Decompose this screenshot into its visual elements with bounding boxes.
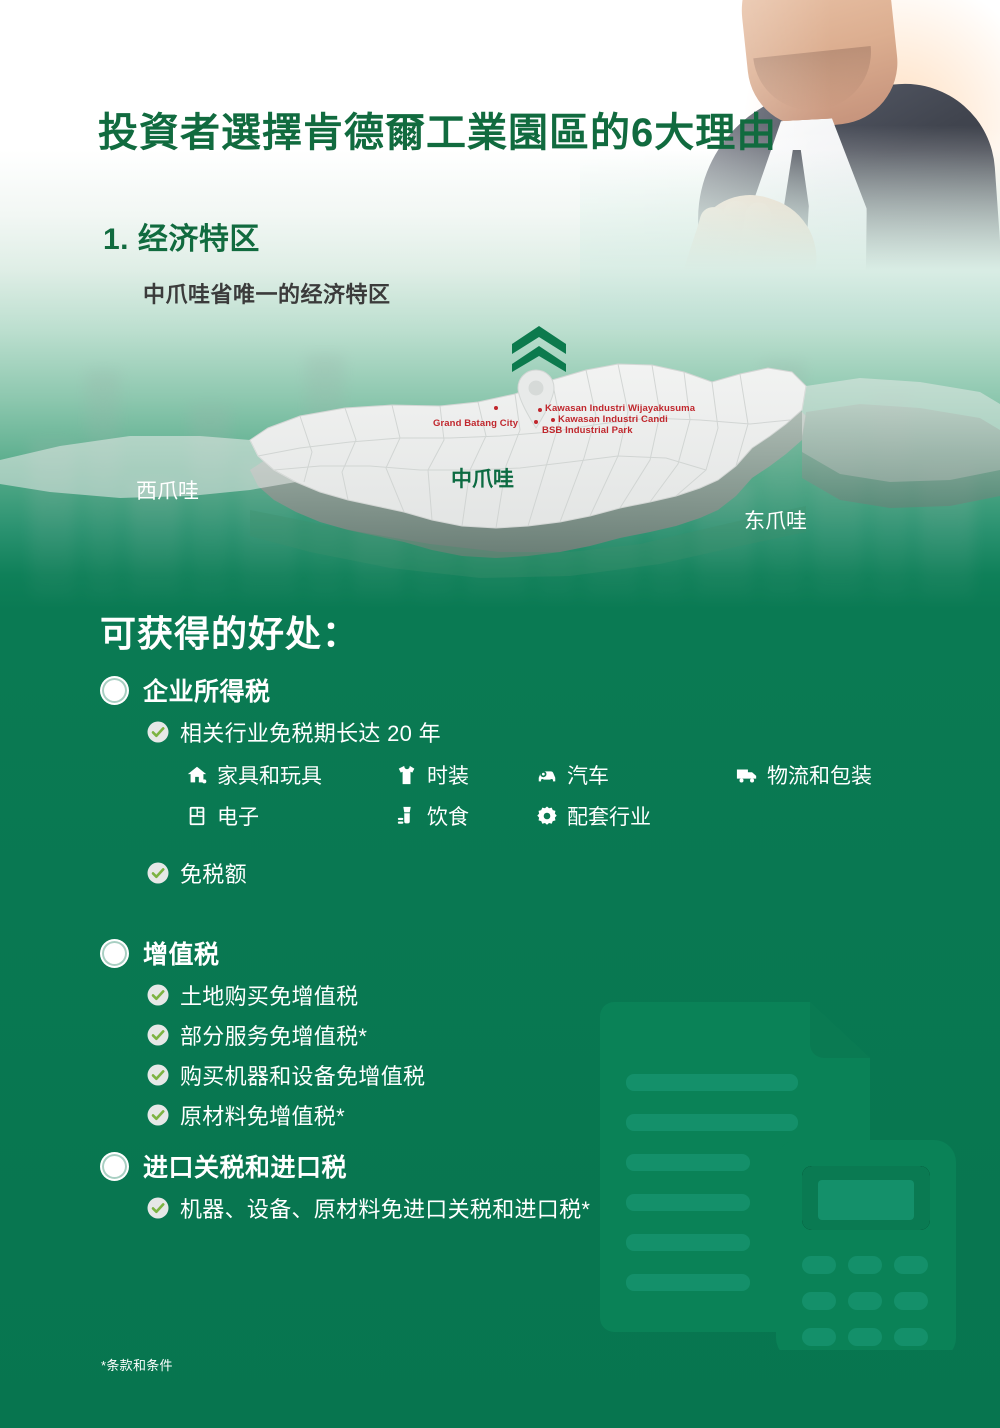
benefits-heading: 可获得的好处： (100, 605, 359, 657)
map-illustration (0, 320, 1000, 600)
industry-label: 时装 (427, 760, 469, 790)
map-label-east-java: 东爪哇 (744, 505, 807, 535)
food-beverage-icon (396, 805, 418, 827)
check-circle-icon (147, 721, 169, 743)
industry-item-electronics: 电子 (186, 801, 396, 831)
benefit-item: 机器、设备、原材料免进口关税和进口税* (147, 1192, 590, 1224)
benefit-item: 土地购买免增值税 (147, 979, 425, 1011)
benefit-item: 部分服务免增值税* (147, 1019, 425, 1051)
benefit-group-title: 增值税 (143, 935, 220, 971)
industry-label: 电子 (217, 801, 259, 831)
benefit-group-header: 企业所得税 (100, 672, 976, 708)
section-subtitle: 中爪哇省唯一的经济特区 (143, 277, 391, 309)
page-title: 投資者選擇肯德爾工業園區的6大理由 (98, 100, 777, 158)
poster-root: 投資者選擇肯德爾工業園區的6大理由 1. 经济特区 中爪哇省唯一的经济特区 (0, 0, 1000, 1428)
industry-label: 物流和包装 (767, 760, 872, 790)
industry-item-supporting: 配套行业 (536, 801, 736, 831)
map-label-bsb: BSB Industrial Park (542, 425, 633, 436)
benefit-group-corporate-income-tax: 企业所得税 相关行业免税期长达 20 年 家具和玩具 时装 (100, 672, 976, 889)
industry-item-automotive: 汽车 (536, 760, 736, 790)
industry-label: 配套行业 (567, 801, 651, 831)
benefit-item: 原材料免增值税* (147, 1099, 425, 1131)
industry-item-logistics: 物流和包装 (736, 760, 976, 790)
map-dot-grand-batang-city (494, 406, 498, 410)
map-dot-candi (551, 418, 555, 422)
industry-label: 家具和玩具 (217, 760, 322, 790)
check-circle-icon (147, 862, 169, 884)
benefit-item-label: 机器、设备、原材料免进口关税和进口税* (180, 1192, 590, 1224)
industry-item-furniture: 家具和玩具 (186, 760, 396, 790)
benefit-item: 购买机器和设备免增值税 (147, 1059, 425, 1091)
photo-green-fade (580, 150, 1000, 330)
check-circle-icon (147, 1104, 169, 1126)
logistics-icon (736, 764, 758, 786)
benefit-item-label: 土地购买免增值税 (180, 979, 358, 1011)
benefit-item-label: 相关行业免税期长达 20 年 (180, 716, 441, 748)
benefit-group-import-duty: 进口关税和进口税 机器、设备、原材料免进口关税和进口税* (100, 1148, 590, 1224)
businessman-photo (580, 0, 1000, 330)
footnote-text: *条款和条件 (101, 1355, 173, 1374)
benefit-item-label: 部分服务免增值税* (180, 1019, 367, 1051)
electronics-icon (186, 805, 208, 827)
benefit-item-label: 购买机器和设备免增值税 (180, 1059, 425, 1091)
benefit-item-label: 免税额 (180, 857, 247, 889)
industry-item-food-beverage: 饮食 (396, 801, 536, 831)
benefit-group-vat: 增值税 土地购买免增值税 部分服务免增值税* 购买机器和设备免增值税 (100, 935, 425, 1131)
industry-item-fashion: 时装 (396, 760, 536, 790)
section-number-heading: 1. 经济特区 (103, 214, 260, 258)
check-circle-icon (147, 1024, 169, 1046)
java-map: Grand Batang City Kawasan Industri Wijay… (0, 320, 1000, 600)
double-chevron-logo (508, 324, 570, 372)
map-dot-wijayakusuma (538, 408, 542, 412)
benefit-group-header: 增值税 (100, 935, 425, 971)
map-label-candi: Kawasan Industri Candi (558, 414, 668, 425)
map-label-central-java: 中爪哇 (451, 463, 514, 493)
ring-bullet-icon (100, 939, 129, 968)
map-dot-bsb (534, 420, 538, 424)
benefit-group-header: 进口关税和进口税 (100, 1148, 590, 1184)
check-circle-icon (147, 1197, 169, 1219)
document-calculator-watermark (580, 990, 1000, 1350)
fashion-icon (396, 764, 418, 786)
furniture-icon (186, 764, 208, 786)
gear-icon (536, 805, 558, 827)
automotive-icon (536, 764, 558, 786)
benefit-item: 免税额 (147, 857, 976, 889)
industry-label: 饮食 (427, 801, 469, 831)
check-circle-icon (147, 1064, 169, 1086)
map-label-grand-batang-city: Grand Batang City (433, 418, 518, 429)
benefit-group-title: 企业所得税 (143, 672, 271, 708)
map-label-wijayakusuma: Kawasan Industri Wijayakusuma (545, 403, 695, 414)
industry-label: 汽车 (567, 760, 609, 790)
map-label-west-java: 西爪哇 (136, 475, 199, 505)
ring-bullet-icon (100, 676, 129, 705)
benefit-group-title: 进口关税和进口税 (143, 1148, 347, 1184)
industry-list: 家具和玩具 时装 汽车 (186, 760, 976, 831)
check-circle-icon (147, 984, 169, 1006)
ring-bullet-icon (100, 1152, 129, 1181)
benefit-item: 相关行业免税期长达 20 年 (147, 716, 976, 748)
benefit-item-label: 原材料免增值税* (180, 1099, 345, 1131)
